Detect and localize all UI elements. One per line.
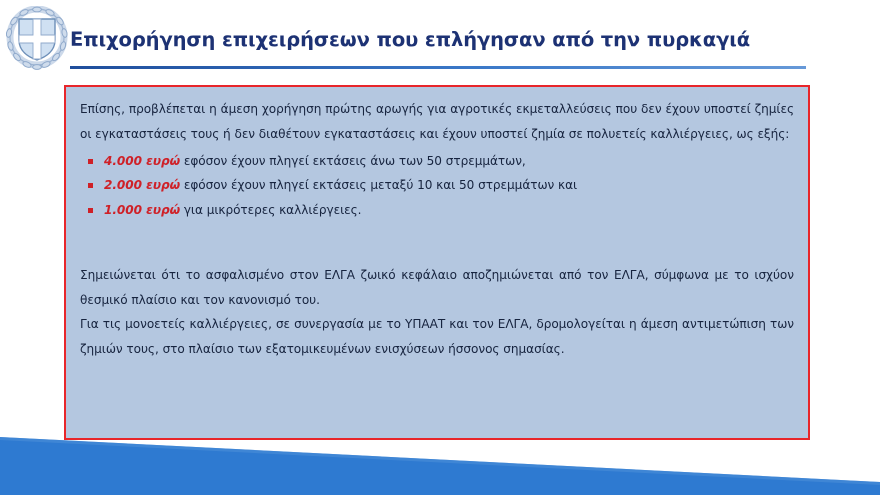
square-bullet-icon [88, 183, 93, 188]
bullet-text: εφόσον έχουν πληγεί εκτάσεις μεταξύ 10 κ… [180, 178, 577, 192]
note-paragraph: Σημειώνεται ότι το ασφαλισμένο στον ΕΛΓΑ… [80, 263, 794, 313]
square-bullet-icon [88, 159, 93, 164]
bullet-amount: 2.000 ευρώ [104, 178, 180, 192]
list-item: 2.000 ευρώ εφόσον έχουν πληγεί εκτάσεις … [80, 173, 794, 198]
list-item: 4.000 ευρώ εφόσον έχουν πληγεί εκτάσεις … [80, 149, 794, 174]
title-underline-rule [70, 66, 806, 69]
bullet-text: εφόσον έχουν πληγεί εκτάσεις άνω των 50 … [180, 154, 526, 168]
bottom-decorative-wedge [0, 437, 880, 495]
bullet-amount: 1.000 ευρώ [104, 203, 180, 217]
hellenic-republic-coat-of-arms-icon [6, 6, 68, 70]
list-item: 1.000 ευρώ για μικρότερες καλλιέργειες. [80, 198, 794, 223]
intro-paragraph: Επίσης, προβλέπεται η άμεση χορήγηση πρώ… [80, 97, 794, 147]
bullet-amount: 4.000 ευρώ [104, 154, 180, 168]
content-box: Επίσης, προβλέπεται η άμεση χορήγηση πρώ… [64, 85, 810, 440]
page-title: Επιχορήγηση επιχειρήσεων που επλήγησαν α… [70, 28, 830, 51]
amount-bullet-list: 4.000 ευρώ εφόσον έχουν πληγεί εκτάσεις … [80, 149, 794, 223]
presentation-slide: Επιχορήγηση επιχειρήσεων που επλήγησαν α… [0, 0, 880, 495]
square-bullet-icon [88, 208, 93, 213]
closing-paragraph: Για τις μονοετείς καλλιέργειες, σε συνερ… [80, 312, 794, 362]
content-spacer [80, 223, 794, 263]
bullet-text: για μικρότερες καλλιέργειες. [180, 203, 361, 217]
